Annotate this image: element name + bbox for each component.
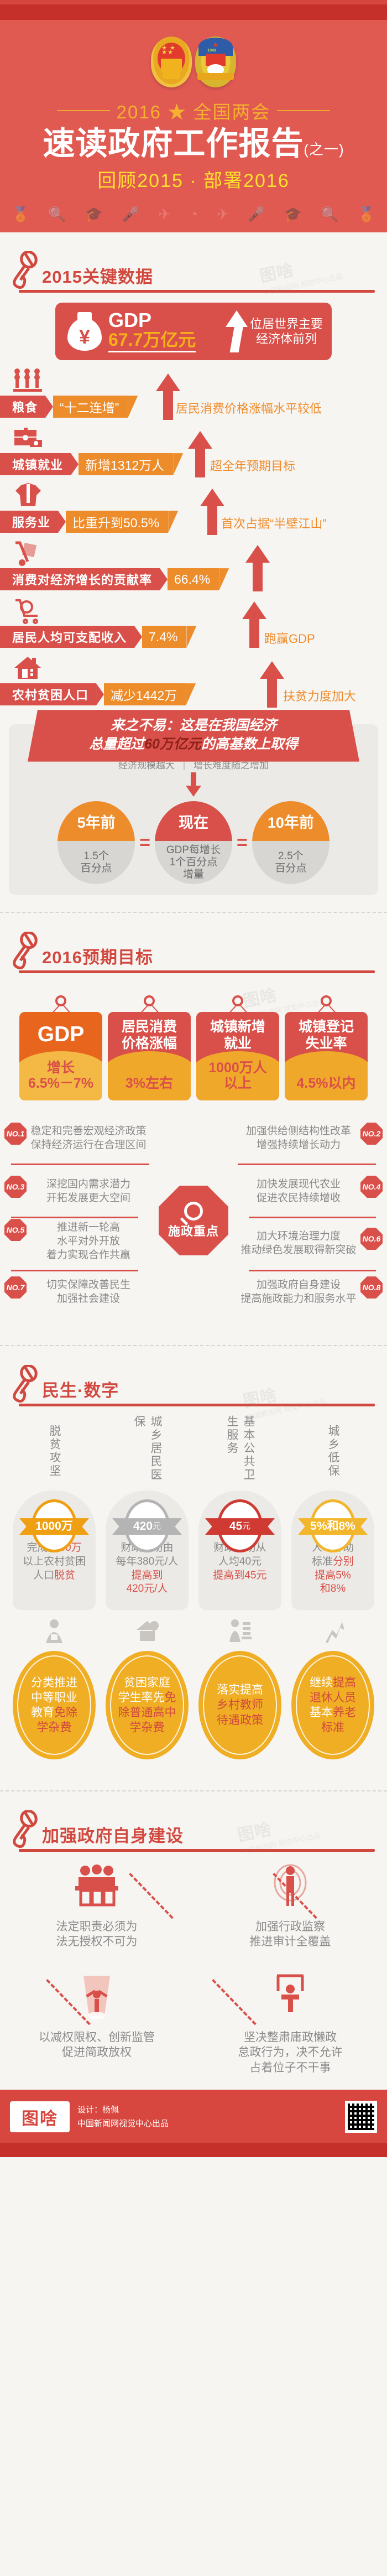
up-arrow-icon	[242, 601, 266, 648]
focus-number: NO.7	[4, 1276, 27, 1299]
cap-hl1: 提高到45元	[213, 1570, 266, 1581]
data-bar: 居民人均可支配收入 7.4%	[0, 626, 196, 648]
badge-ribbon: 420元	[112, 1518, 182, 1535]
school-icon	[134, 1617, 160, 1645]
target-card: 居民消费 价格涨幅 3%左右	[108, 995, 191, 1100]
oval-card: 贫困家庭 学生率先免 除普通高中 学杂费	[106, 1651, 189, 1759]
gov-row-1: 法定职责必须为 法无授权不可为 加强行政监察 推进审计全覆盖	[0, 1857, 387, 1968]
focus-text-line1: 加强政府自身建设	[233, 1279, 364, 1292]
data-bar: 服务业 比重升到50.5%	[0, 511, 178, 533]
hook-icon	[321, 995, 332, 1006]
data-row: 服务业 比重升到50.5% 首次占据“半壁江山”	[0, 481, 387, 538]
target-card: GDP 增长 6.5%－7%	[19, 995, 102, 1100]
infographic-page: ★ ★★★ ★1949 2016 ★ 全国两会 速读政府工作报告(之一) 回顾2…	[0, 0, 387, 2157]
section-title: 民生·数字	[42, 1377, 119, 1404]
hard-won-line2a: 总量超过	[89, 736, 144, 752]
badge-unit: 元	[153, 1521, 161, 1532]
oval-card: 分类推进 中等职业 教育免除 学杂费	[13, 1651, 96, 1759]
focus-text: 加强供给侧结构性改革 增强持续增长动力	[233, 1125, 383, 1152]
data-key: 城镇就业	[0, 453, 71, 475]
data-value: “十二连增”	[53, 396, 128, 418]
page-title-suffix: (之一)	[304, 141, 344, 158]
gov-text: 加强行政监察 推进审计全覆盖	[199, 1919, 381, 1950]
microphone-icon	[10, 1365, 40, 1404]
comparison-cell: 现在 GDP每增长 1个百分点 增量	[155, 801, 232, 884]
badge-value: 45	[229, 1519, 242, 1534]
gov-line2: 怠政行为，决不允许	[199, 2045, 381, 2060]
cap-l3: 人口	[33, 1570, 54, 1581]
section-2015-key-data: 图啥中国新闻网 视觉中心出品 2015关键数据 ¥ GDP	[0, 232, 387, 913]
cap-hl2: 420元/人	[127, 1583, 168, 1595]
focus-text: 加快发展现代农业 促进农民持续增收	[233, 1178, 383, 1205]
column-label: 基本公共卫生服务	[223, 1415, 257, 1487]
data-bar: 粮食 “十二连增”	[0, 396, 138, 418]
oval-hl1: 乡村教师	[217, 1699, 263, 1711]
gov-text: 坚决整肃庸政懒政 怠政行为，决不允许 占着位子不干事	[199, 2030, 381, 2075]
oval-column: 落实提高 乡村教师 待遇政策	[196, 1617, 284, 1759]
focus-number: NO.4	[360, 1176, 383, 1198]
hard-won-block: 来之不易：这是在我国经济 总量超过60万亿元的高基数上取得 经济规模越大 增长难…	[9, 724, 378, 895]
microphone-icon: 🎤	[122, 206, 139, 223]
gov-line1: 坚决整肃庸政懒政	[199, 2030, 381, 2045]
oval-hl3: 养老	[333, 1706, 356, 1719]
oval-hl4: 标准	[321, 1721, 344, 1734]
focus-number: NO.5	[4, 1219, 27, 1241]
header-topbar	[0, 4, 387, 20]
focus-number: NO.3	[4, 1176, 27, 1198]
gdp-label: GDP	[108, 310, 196, 330]
focus-text-line1: 加强供给侧结构性改革	[233, 1125, 364, 1139]
oval-l1: 落实提高	[217, 1684, 263, 1696]
data-key: 粮食	[0, 396, 45, 418]
card-title-line1: 城镇登记	[287, 1019, 365, 1035]
oval-column: 贫困家庭 学生率先免 除普通高中 学杂费	[103, 1617, 191, 1759]
cap-l2: 人均40元	[218, 1556, 262, 1567]
focus-text-line2: 水平对外开放	[23, 1235, 154, 1249]
kicker-rule-left	[57, 110, 110, 111]
hard-won-line1: 来之不易：这是在我国经济	[32, 716, 355, 735]
gov-text: 以减权限权、创新监管 促进简政放权	[6, 2030, 188, 2060]
cppcc-emblem-icon: ★1949	[195, 37, 236, 87]
comparison-cell: 5年前 1.5个 百分点	[57, 801, 135, 884]
house-icon	[13, 655, 43, 682]
graduation-cap-icon: 🎓	[85, 206, 103, 223]
focus-number: NO.1	[4, 1123, 27, 1145]
column-capsule: 5%和8% 人均补助 标准分别 提高5% 和8%	[291, 1490, 374, 1610]
oval-card: 落实提高 乡村教师 待遇政策	[198, 1651, 281, 1759]
focus-text-line1: 加快发展现代农业	[233, 1178, 364, 1192]
data-row: 农村贫困人口 减少1442万 扶贫力度加大	[0, 653, 387, 711]
target-card: 城镇新增 就业 1000万人 以上	[196, 995, 279, 1100]
oval-text: 分类推进 中等职业 教育免除 学杂费	[23, 1675, 85, 1736]
focus-number: NO.8	[360, 1276, 383, 1299]
medal-icon: 🏅	[12, 206, 29, 223]
cell-body: 2.5个 百分点	[252, 841, 330, 884]
gdp-note-line2: 经济体前列	[250, 331, 323, 347]
data-row: 消费对经济增长的贡献率 66.4%	[0, 538, 387, 596]
hard-won-banner: 来之不易：这是在我国经济 总量超过60万亿元的高基数上取得	[28, 710, 359, 762]
gov-line2: 促进简政放权	[6, 2045, 188, 2060]
data-key: 居民人均可支配收入	[0, 626, 134, 648]
card-title-line1: 居民消费	[110, 1019, 189, 1035]
growth-icon	[320, 1617, 346, 1645]
cell-line2: 1个百分点	[166, 856, 221, 869]
gov-row-2: 以减权限权、创新监管 促进简政放权 坚决整肃庸政懒政 怠政行为，决不允许	[0, 1968, 387, 2079]
shirt-icon	[13, 482, 43, 510]
badge-value: 420	[133, 1519, 153, 1534]
footer-bottom-bar	[0, 2143, 387, 2157]
kicker-text: 2016 ★ 全国两会	[117, 97, 271, 124]
oval-l1: 继续	[310, 1676, 333, 1689]
section-title: 2016预期目标	[42, 943, 153, 970]
airplane-icon: ✈	[158, 206, 170, 223]
oval-hl3: 免除	[54, 1706, 77, 1719]
focus-number: NO.6	[360, 1228, 383, 1250]
page-title: 速读政府工作报告(之一)	[0, 126, 387, 162]
magnifier-icon-2: 🔍	[321, 206, 338, 223]
focus-text: 稳定和完善宏观经济政策 保持经济运行在合理区间	[4, 1125, 154, 1152]
column-capsule: 420元 财政补助由 每年380元/人 提高到 420元/人	[106, 1490, 189, 1610]
focus-text: 推进新一轮高 水平对外开放 着力实现合作共赢	[4, 1221, 154, 1262]
up-arrow-icon	[260, 661, 284, 708]
cap-l2: 每年380元/人	[116, 1556, 179, 1567]
microphone-icon	[10, 932, 40, 970]
gov-line2: 推进审计全覆盖	[199, 1934, 381, 1949]
data-key: 农村贫困人口	[0, 683, 96, 705]
card-title-line1: 城镇新增	[198, 1019, 277, 1035]
focus-text-line2: 促进农民持续增收	[233, 1192, 364, 1206]
data-key: 消费对经济增长的贡献率	[0, 568, 160, 590]
data-value: 66.4%	[168, 568, 219, 590]
cell-line1: 1.5个	[81, 850, 112, 863]
badge: 45元	[217, 1499, 263, 1552]
cell-line2: 百分点	[275, 863, 306, 875]
data-row: 城镇就业 新增1312万人 超全年预期目标	[0, 423, 387, 481]
data-note: 首次占据“半壁江山”	[221, 514, 327, 532]
page-title-main: 速读政府工作报告	[43, 126, 304, 162]
card-title-line2: 就业	[198, 1035, 277, 1052]
focus-item-3: NO.3 深挖国内需求潜力 开拓发展更大空间	[4, 1178, 154, 1205]
section-title: 2015关键数据	[42, 263, 153, 290]
section-2016-header: 2016预期目标	[0, 913, 387, 970]
column-capsule: 1000万 完成1000万 以上农村贫困 人口脱贫	[13, 1490, 96, 1610]
gov-line2: 法无授权不可为	[6, 1934, 188, 1949]
page-header: ★ ★★★ ★1949 2016 ★ 全国两会 速读政府工作报告(之一) 回顾2…	[0, 0, 387, 232]
oval-l1: 分类推进	[31, 1676, 77, 1689]
airplane-icon-2: ✈	[217, 206, 229, 223]
target-cards: GDP 增长 6.5%－7% 居民消费 价格涨幅	[0, 973, 387, 1107]
cap-hl2: 脱贫	[54, 1570, 75, 1581]
badge-ribbon: 5%和8%	[298, 1518, 368, 1535]
focus-item-8: NO.8 加强政府自身建设 提高施政能力和服务水平	[233, 1279, 383, 1306]
money-bag-icon: ¥	[64, 311, 105, 352]
section-2016-targets: 图啥中国新闻网 视觉中心出品 2016预期目标 GDP	[0, 913, 387, 1346]
magnifier-icon: 🔍	[48, 206, 66, 223]
badge: 420元	[124, 1499, 170, 1552]
emblem-group: ★ ★★★ ★1949	[0, 34, 387, 90]
target-card: 城镇登记 失业率 4.5%以内	[285, 995, 368, 1100]
data-bar: 农村贫困人口 减少1442万	[0, 683, 196, 705]
cap-hl1: 分别	[333, 1556, 354, 1567]
header-kicker: 2016 ★ 全国两会	[0, 97, 387, 124]
badge-value: 5%和8%	[310, 1519, 355, 1534]
card-value-line2: 以上	[196, 1076, 279, 1092]
trolley-icon	[13, 539, 43, 567]
data-bar: 消费对经济增长的贡献率 66.4%	[0, 568, 229, 590]
oval-hl4: 学杂费	[130, 1721, 165, 1734]
column-label: 城乡居民医保	[130, 1415, 164, 1487]
card-title: 城镇新增 就业	[196, 1012, 279, 1052]
card-value: 1000万人 以上	[196, 1060, 279, 1092]
focus-text: 加强政府自身建设 提高施政能力和服务水平	[233, 1279, 383, 1306]
cap-l2: 标准	[312, 1556, 333, 1567]
card-value-line1: 增长	[19, 1060, 102, 1076]
data-note: 扶贫力度加大	[283, 687, 356, 704]
briefcase-icon	[13, 424, 43, 452]
oval-l3: 基本	[310, 1706, 333, 1719]
equals-sign-2: =	[236, 832, 249, 854]
hook-icon	[55, 995, 66, 1006]
cart-icon	[13, 597, 43, 625]
header-icon-band: 🏅 🔍 🎓 🎤 ✈ ◔ ✈ 🎤 🎓 🔍 🏅	[0, 197, 387, 232]
focus-text-line2: 加强社会建设	[23, 1292, 154, 1306]
oval-l1: 贫困家庭	[124, 1676, 170, 1689]
oval-column: 分类推进 中等职业 教育免除 学杂费	[10, 1617, 98, 1759]
oval-card: 继续提高 退休人员 基本养老 标准	[291, 1651, 374, 1759]
card-title: 居民消费 价格涨幅	[108, 1012, 191, 1052]
page-footer: 图啥 设计：杨佩 中国新闻网视觉中心出品	[0, 2090, 387, 2143]
microphone-icon-2: 🎤	[248, 206, 265, 223]
gov-text: 法定职责必须为 法无授权不可为	[6, 1919, 188, 1950]
section-gov-building: 图啥中国新闻网 视觉中心出品 加强政府自身建设	[0, 1791, 387, 2090]
cell-title: 5年前	[57, 801, 135, 841]
cell-title: 现在	[155, 801, 232, 841]
gov-line3: 占着位子不干事	[199, 2060, 381, 2075]
gdp-note-line1: 位居世界主要	[250, 316, 323, 332]
focus-text-line2: 开拓发展更大空间	[23, 1192, 154, 1206]
focus-item-4: NO.4 加快发展现代农业 促进农民持续增收	[233, 1178, 383, 1205]
data-value: 减少1442万	[104, 683, 186, 705]
up-arrow-icon	[245, 545, 270, 591]
equals-sign: =	[138, 832, 151, 854]
cell-line1: 2.5个	[275, 850, 306, 863]
card-value: 增长 6.5%－7%	[19, 1060, 102, 1092]
oval-hl4: 学杂费	[37, 1721, 72, 1734]
graduation-cap-icon-2: 🎓	[284, 206, 302, 223]
oval-text: 落实提高 乡村教师 待遇政策	[209, 1682, 271, 1728]
oval-column: 继续提高 退休人员 基本养老 标准	[289, 1617, 377, 1759]
data-row: 粮食 “十二连增” 居民消费价格涨幅水平较低	[0, 366, 387, 423]
focus-item-7: NO.7 切实保障改善民生 加强社会建设	[4, 1279, 154, 1306]
focus-item-2: NO.2 加强供给侧结构性改革 增强持续增长动力	[233, 1125, 383, 1152]
badge: 1000万	[32, 1499, 77, 1552]
data-value: 新增1312万人	[79, 453, 173, 475]
livelihood-column: 城乡低保 5%和8% 人均补助 标准分别 提高5% 和8%	[289, 1415, 377, 1610]
up-arrow-icon	[188, 431, 212, 477]
card-value-line2: 6.5%－7%	[19, 1076, 102, 1092]
focus-text-line3: 着力实现合作共赢	[23, 1249, 154, 1263]
card-title-line2: 失业率	[287, 1035, 365, 1052]
livelihood-column: 城乡居民医保 420元 财政补助由 每年380元/人 提高到 420元/人	[103, 1415, 191, 1610]
section-livelihood-header: 民生·数字	[0, 1346, 387, 1404]
gdp-card-wrap: ¥ GDP 67.7万亿元 位居世界主要 经济体前列	[0, 293, 387, 362]
focus-number: NO.2	[360, 1123, 383, 1145]
microphone-icon	[10, 1810, 40, 1849]
data-row: 居民人均可支配收入 7.4% 跑赢GDP	[0, 596, 387, 653]
focus-text-line1: 稳定和完善宏观经济政策	[23, 1125, 154, 1139]
gov-items: 法定职责必须为 法无授权不可为 加强行政监察 推进审计全覆盖	[0, 1852, 387, 2090]
comparison-cell: 10年前 2.5个 百分点	[252, 801, 330, 884]
focus-text-line2: 保持经济运行在合理区间	[23, 1139, 154, 1152]
cap-hl1: 提高到	[131, 1570, 163, 1581]
livelihood-column: 基本公共卫生服务 45元 财政补助从 人均40元 提高到45元	[196, 1415, 284, 1610]
kicker-rule-right	[277, 110, 330, 111]
card-value-line1: 1000万人	[196, 1060, 279, 1076]
hook-icon	[232, 995, 243, 1006]
footer-credits: 设计：杨佩 中国新闻网视觉中心出品	[77, 2103, 169, 2131]
cap-hl2: 提高5%	[315, 1570, 351, 1581]
focus-text-line1: 加大环境治理力度	[233, 1230, 364, 1244]
focus-text-line2: 推动绿色发展取得新突破	[233, 1244, 364, 1258]
badge: 5%和8%	[310, 1499, 355, 1552]
down-arrow-icon	[186, 772, 201, 797]
data-note: 跑赢GDP	[264, 629, 315, 647]
oval-text: 贫困家庭 学生率先免 除普通高中 学杂费	[111, 1675, 184, 1736]
data-note: 居民消费价格涨幅水平较低	[176, 399, 322, 417]
cell-line1: GDP每增长	[166, 844, 221, 856]
hard-won-line2b: 的高基数上取得	[201, 736, 298, 752]
livelihood-ovals: 分类推进 中等职业 教育免除 学杂费 贫困家庭 学生率先免 除普通高中	[0, 1610, 387, 1774]
pie-chart-icon: ◔	[189, 206, 198, 223]
cell-title: 10年前	[252, 801, 330, 841]
microphone-icon	[10, 251, 40, 290]
focus-text-line2: 提高施政能力和服务水平	[233, 1292, 364, 1306]
qr-code-icon[interactable]	[345, 2101, 377, 2133]
cell-line3: 增量	[166, 869, 221, 881]
footer-designer: 设计：杨佩	[77, 2103, 169, 2117]
badge-ribbon: 45元	[205, 1518, 275, 1535]
comparison-eggs: 5年前 1.5个 百分点 = 现在 GDP每增长 1个百分点	[17, 801, 370, 884]
data-value: 7.4%	[142, 626, 186, 648]
section-gov-header: 加强政府自身建设	[0, 1791, 387, 1849]
medal-icon-2: 🏅	[358, 206, 375, 223]
oval-hl2: 免	[165, 1691, 176, 1704]
hard-won-highlight: 60万亿元	[144, 736, 201, 752]
oval-hl2: 待遇政策	[217, 1714, 263, 1727]
focus-text-line2: 增强持续增长动力	[233, 1139, 364, 1152]
footer-producer: 中国新闻网视觉中心出品	[77, 2117, 169, 2131]
focus-text-line1: 推进新一轮高	[23, 1221, 154, 1235]
section-title: 加强政府自身建设	[42, 1822, 184, 1849]
gdp-card: ¥ GDP 67.7万亿元 位居世界主要 经济体前列	[55, 303, 332, 360]
focus-text: 深挖国内需求潜力 开拓发展更大空间	[4, 1178, 154, 1205]
oval-l2: 中等职业	[31, 1691, 77, 1704]
data-value: 比重升到50.5%	[66, 511, 168, 533]
badge-ribbon: 1000万	[19, 1518, 89, 1535]
magnifier-icon	[184, 1202, 203, 1221]
card-title: 城镇登记 失业率	[285, 1012, 368, 1052]
badge-unit: 元	[242, 1521, 250, 1532]
policy-focus-center: 施政重点	[159, 1186, 228, 1255]
focus-item-5: NO.5 推进新一轮高 水平对外开放 着力实现合作共赢	[4, 1221, 154, 1262]
section-livelihood: 图啥中国新闻网 视觉中心出品 民生·数字 脱贫攻坚	[0, 1346, 387, 1791]
focus-text: 加大环境治理力度 推动绿色发展取得新突破	[233, 1230, 383, 1257]
section-2015-header: 2015关键数据	[0, 232, 387, 290]
card-title-line2: 价格涨幅	[110, 1035, 189, 1052]
hook-icon	[144, 995, 155, 1006]
data-bar: 城镇就业 新增1312万人	[0, 453, 183, 475]
gdp-value: 67.7万亿元	[108, 330, 196, 352]
card-value: 3%左右	[108, 1076, 191, 1092]
cell-line2: 百分点	[81, 863, 112, 875]
oval-l2: 学生率先	[118, 1691, 165, 1704]
livelihood-columns: 脱贫攻坚 1000万 完成1000万 以上农村贫困 人口脱贫	[0, 1406, 387, 1610]
oval-hl3: 除普通高中	[118, 1706, 176, 1719]
policy-focus-diagram: 施政重点 NO.1 稳定和完善宏观经济政策 保持经济运行在合理区间 NO.2 加…	[0, 1113, 387, 1328]
up-arrow-icon	[226, 310, 248, 352]
focus-text: 切实保障改善民生 加强社会建设	[4, 1279, 154, 1306]
policy-focus-label: 施政重点	[168, 1222, 219, 1239]
focus-item-6: NO.6 加大环境治理力度 推动绿色发展取得新突破	[233, 1230, 383, 1257]
livelihood-column: 脱贫攻坚 1000万 完成1000万 以上农村贫困 人口脱贫	[10, 1415, 98, 1610]
cap-l2: 以上农村贫困	[23, 1556, 86, 1567]
oval-text: 继续提高 退休人员 基本养老 标准	[302, 1675, 364, 1736]
student-icon	[41, 1617, 67, 1645]
oval-l3: 教育	[31, 1706, 54, 1719]
gdp-note: 位居世界主要 经济体前列	[250, 316, 323, 347]
page-subtitle: 回顾2015 · 部署2016	[0, 165, 387, 195]
cell-body: 1.5个 百分点	[57, 841, 135, 884]
gov-line1: 以减权限权、创新监管	[6, 2030, 188, 2045]
teacher-icon	[227, 1617, 253, 1645]
key-data-rows: 粮食 “十二连增” 居民消费价格涨幅水平较低 城镇就业	[0, 362, 387, 721]
focus-text-line1: 切实保障改善民生	[23, 1279, 154, 1292]
wheat-icon	[13, 367, 43, 394]
badge-value: 1000万	[35, 1519, 73, 1534]
focus-item-1: NO.1 稳定和完善宏观经济政策 保持经济运行在合理区间	[4, 1125, 154, 1152]
oval-hl1: 提高	[333, 1676, 356, 1689]
cell-body: GDP每增长 1个百分点 增量	[155, 841, 232, 884]
data-key: 服务业	[0, 511, 58, 533]
column-label: 城乡低保	[325, 1415, 341, 1487]
national-emblem-icon: ★ ★★★	[151, 37, 192, 87]
oval-hl2: 退休人员	[310, 1691, 356, 1704]
column-label: 脱贫攻坚	[46, 1415, 62, 1487]
data-note: 超全年预期目标	[210, 456, 295, 474]
column-capsule: 45元 财政补助从 人均40元 提高到45元	[198, 1490, 281, 1610]
card-title: GDP	[19, 1012, 102, 1048]
brand-logo: 图啥	[10, 2101, 70, 2132]
cap-hl3: 和8%	[320, 1583, 346, 1595]
card-value: 4.5%以内	[285, 1076, 368, 1092]
focus-text-line1: 深挖国内需求潜力	[23, 1178, 154, 1192]
